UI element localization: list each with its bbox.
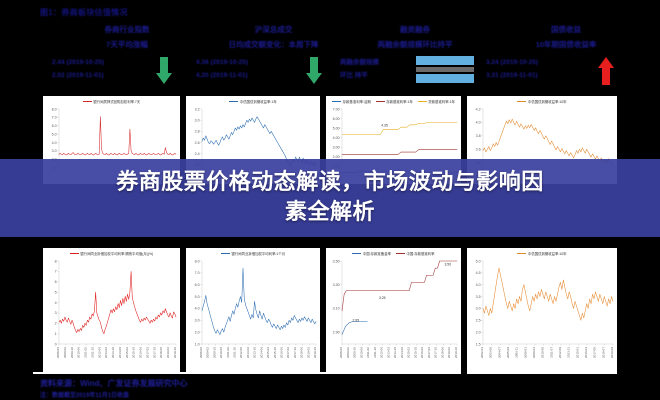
y-axis-tick: 3.0 [195, 319, 200, 323]
y-axis-tick: 5.0 [195, 295, 200, 299]
chart-r2c2-plot: 3.503.303.102.902008-062009-022009-10201… [326, 248, 461, 374]
y-axis-tick: 4.0 [52, 141, 57, 145]
x-axis-tick: 2006-11 [515, 347, 519, 358]
x-axis-tick: 2008-06 [199, 347, 203, 358]
chart-panel-r2c3: 中债国债到期收益率:10年 5.04.54.03.53.02.52.01.520… [467, 248, 617, 374]
header-col3-title2: 10年期国债收益率 [486, 39, 646, 50]
header-col2-row1: 环比 持平 [340, 69, 379, 82]
series-line [59, 271, 176, 333]
x-axis-tick: 2013-02 [386, 347, 390, 358]
series-line [342, 150, 457, 155]
header-col0-row1: 2.02 (2019-11-01) [52, 69, 104, 82]
y-axis-tick: 5 [55, 290, 57, 294]
x-axis-tick: 2008-06 [339, 347, 343, 358]
x-axis-tick: 2011-10 [233, 347, 237, 358]
header-column-market-turnover: 沪深总成交 日均成交额变化：本周下降 4.38 (2019-10-25) 4.2… [196, 24, 351, 90]
x-axis-tick: 2009-10 [212, 347, 216, 358]
y-axis-tick: 3.6 [476, 148, 481, 152]
x-axis-tick: 2012-06 [239, 347, 243, 358]
header-col1-title2: 日均成交额变化：本周下降 [196, 39, 351, 50]
x-axis-tick: 2018-06 [300, 347, 304, 358]
header-col3-title1: 国债收益 [486, 24, 646, 35]
banner-line-1: 券商股票价格动态解读，市场波动与影响因 [30, 168, 630, 198]
y-axis-tick: 4.0 [476, 283, 481, 287]
x-axis-tick: 2009-02 [63, 347, 67, 358]
x-axis-tick: 2011-10 [373, 347, 377, 358]
x-axis-tick: 2018-06 [440, 347, 444, 358]
x-axis-tick: 2015-10 [413, 347, 417, 358]
x-axis-tick: 2019-10 [454, 347, 458, 358]
x-axis-tick: 2002-03 [480, 347, 484, 358]
y-axis-tick: 4 [55, 301, 57, 305]
y-axis-tick: 3.00 [333, 146, 340, 150]
header-col2-title2: 两融余额规模环比持平 [340, 39, 490, 50]
y-axis-tick: 2.5 [476, 319, 481, 323]
y-axis-tick: 8.0 [195, 259, 200, 263]
y-axis-tick: 7.0 [195, 271, 200, 275]
header-column-brokerage-index: 券商行业指数 7天平均涨幅 2.44 (2019-10-25) 2.02 (20… [52, 24, 202, 90]
y-axis-tick: 7.00 [333, 107, 340, 111]
footer-source: 资料来源：Wind、广发证券发展研究中心 [40, 378, 187, 389]
footer-note: 注：数据截至2019年11月1日收盘 [40, 390, 129, 399]
x-axis-tick: 2019-02 [447, 347, 451, 358]
y-axis-tick: 4.0 [476, 121, 481, 125]
x-axis-tick: 2009-03 [532, 347, 536, 358]
x-axis-tick: 2017-02 [286, 347, 290, 358]
y-axis-tick: 5.0 [52, 132, 57, 136]
series-line [342, 321, 367, 334]
chart-r2c0-plot: 8765432102008-062009-022009-102010-06201… [43, 248, 180, 374]
footer-divider [33, 372, 261, 374]
y-axis-tick: 2.4 [195, 152, 200, 156]
y-axis-tick: 2.8 [195, 130, 200, 134]
y-axis-tick: 3.2 [195, 107, 200, 111]
y-axis-tick: 7 [55, 270, 57, 274]
x-axis-tick: 2017-10 [434, 347, 438, 358]
page-title: 图1：券商板块估值情况 [40, 7, 128, 18]
y-axis-tick: 4.0 [195, 307, 200, 311]
x-axis-tick: 2018-07 [601, 347, 605, 358]
x-axis-tick: 2017-10 [293, 347, 297, 358]
y-axis-tick: 1 [55, 332, 57, 336]
x-axis-tick: 2010-06 [359, 347, 363, 358]
x-axis-tick: 2013-10 [393, 347, 397, 358]
y-axis-tick: 3.50 [333, 259, 340, 263]
y-axis-tick: 3.5 [476, 295, 481, 299]
x-axis-tick: 2003-05 [489, 347, 493, 358]
x-axis-tick: 2011-02 [226, 347, 230, 358]
header-block: 图1：券商板块估值情况 券商行业指数 7天平均涨幅 2.44 (2019-10-… [0, 0, 660, 92]
x-axis-tick: 2019-09 [610, 347, 614, 358]
title-banner: 券商股票价格动态解读，市场波动与影响因 素全解析 [0, 159, 660, 237]
x-axis-tick: 2013-11 [567, 347, 571, 358]
header-col2-title1: 融资融券 [340, 24, 490, 35]
header-col3-row1: 3.31 (2019-11-01) [486, 69, 538, 82]
x-axis-tick: 2016-03 [584, 347, 588, 358]
data-label: 3.50 [444, 263, 451, 267]
x-axis-tick: 2009-10 [70, 347, 74, 358]
x-axis-tick: 2019-02 [166, 347, 170, 358]
y-axis-tick: 2.0 [476, 330, 481, 334]
series-line [483, 268, 613, 320]
y-axis-tick: 6 [55, 280, 57, 284]
x-axis-tick: 2015-01 [575, 347, 579, 358]
y-axis-tick: 6.0 [195, 283, 200, 287]
header-col0-title2: 7天平均涨幅 [52, 39, 202, 50]
x-axis-tick: 2011-02 [84, 347, 88, 358]
x-axis-tick: 2017-05 [593, 347, 597, 358]
y-axis-tick: 2.90 [333, 330, 340, 334]
x-axis-tick: 2019-10 [313, 347, 317, 358]
arrow-down-icon [306, 57, 322, 85]
y-axis-tick: 3.0 [195, 118, 200, 122]
banner-line-2: 素全解析 [30, 198, 630, 228]
header-col1-row1: 4.20 (2019-11-01) [196, 69, 248, 82]
y-axis-tick: 5.00 [333, 126, 340, 130]
y-axis-tick: 3.0 [476, 307, 481, 311]
chart-r2c3-plot: 5.04.54.03.53.02.52.01.52002-032003-0520… [467, 248, 617, 374]
y-axis-tick: 3.0 [52, 149, 57, 153]
chart-panel-r2c1: 银行间同业拆借加权平均利率:1个月 8.07.06.05.04.03.02.01… [186, 248, 320, 374]
y-axis-tick: 6.0 [52, 124, 57, 128]
data-label: 2.95 [352, 318, 359, 322]
x-axis-tick: 2009-10 [353, 347, 357, 358]
header-col1-row0: 4.38 (2019-10-25) [196, 56, 248, 69]
x-axis-tick: 2009-02 [206, 347, 210, 358]
series-line [202, 268, 316, 334]
header-col1-title1: 沪深总成交 [196, 24, 351, 35]
x-axis-tick: 2012-06 [97, 347, 101, 358]
y-axis-tick: 5.0 [476, 259, 481, 263]
y-axis-tick: 0 [55, 342, 57, 346]
x-axis-tick: 2014-06 [118, 347, 122, 358]
y-axis-tick: 8 [55, 259, 57, 263]
x-axis-tick: 2015-10 [132, 347, 136, 358]
header-col0-title1: 券商行业指数 [52, 24, 202, 35]
y-axis-tick: 4.5 [476, 271, 481, 275]
series-line [342, 122, 457, 134]
flat-bars-icon [416, 56, 474, 83]
y-axis-tick: 1.5 [476, 342, 481, 346]
data-label: 4.35 [381, 124, 388, 128]
y-axis-tick: 4.00 [333, 136, 340, 140]
series-line [342, 261, 457, 311]
x-axis-tick: 2016-06 [139, 347, 143, 358]
header-col0-row0: 2.44 (2019-10-25) [52, 56, 104, 69]
x-axis-tick: 2013-10 [253, 347, 257, 358]
arrow-down-icon [156, 57, 172, 85]
y-axis-tick: 2.6 [195, 141, 200, 145]
y-axis-tick: 1.0 [195, 342, 200, 346]
footer-divider-2 [272, 372, 392, 374]
chart-panel-r2c2: 中国:存款准备金率中国:存款基准利率 3.503.303.102.902008-… [326, 248, 461, 374]
x-axis-tick: 2011-10 [90, 347, 94, 358]
y-axis-tick: 6.00 [333, 117, 340, 121]
y-axis-tick: 3 [55, 311, 57, 315]
arrow-up-icon [598, 57, 614, 85]
header-col3-row0: 3.24 (2019-10-25) [486, 56, 538, 69]
header-column-bond-yield: 国债收益 10年期国债收益率 3.24 (2019-10-25) 3.31 (2… [486, 24, 646, 90]
x-axis-tick: 2014-06 [259, 347, 263, 358]
x-axis-tick: 2005-09 [506, 347, 510, 358]
x-axis-tick: 2019-02 [306, 347, 310, 358]
x-axis-tick: 2012-06 [380, 347, 384, 358]
chart-panel-r2c0: 银行间同业拆借加权平均利率:隔夜平均值(月)(%) 8765432102008-… [43, 248, 180, 374]
x-axis-tick: 2015-02 [125, 347, 129, 358]
header-column-margin-balance: 融资融券 两融余额规模环比持平 两融余额规模 环比 持平 [340, 24, 490, 90]
y-axis-tick: 3.30 [333, 283, 340, 287]
x-axis-tick: 2008-01 [523, 347, 527, 358]
data-label: 3.25 [379, 296, 386, 300]
screenshot-root: 图1：券商板块估值情况 券商行业指数 7天平均涨幅 2.44 (2019-10-… [0, 0, 660, 400]
x-axis-tick: 2015-02 [407, 347, 411, 358]
x-axis-tick: 2008-06 [56, 347, 60, 358]
header-columns: 券商行业指数 7天平均涨幅 2.44 (2019-10-25) 2.02 (20… [0, 24, 660, 90]
x-axis-tick: 2017-02 [427, 347, 431, 358]
y-axis-tick: 3.8 [476, 134, 481, 138]
header-col2-row0: 两融余额规模 [340, 56, 379, 69]
x-axis-tick: 2011-07 [549, 347, 553, 358]
x-axis-tick: 2013-02 [246, 347, 250, 358]
y-axis-tick: 3.10 [333, 307, 340, 311]
x-axis-tick: 2017-10 [152, 347, 156, 358]
x-axis-tick: 2018-06 [159, 347, 163, 358]
x-axis-tick: 2010-05 [541, 347, 545, 358]
x-axis-tick: 2010-06 [77, 347, 81, 358]
x-axis-tick: 2015-10 [273, 347, 277, 358]
y-axis-tick: 4.2 [476, 107, 481, 111]
x-axis-tick: 2011-02 [366, 347, 370, 358]
x-axis-tick: 2019-10 [173, 347, 177, 358]
y-axis-tick: 7.0 [52, 116, 57, 120]
y-axis-tick: 8.0 [52, 107, 57, 111]
x-axis-tick: 2013-10 [111, 347, 115, 358]
x-axis-tick: 2012-09 [558, 347, 562, 358]
x-axis-tick: 2015-02 [266, 347, 270, 358]
y-axis-tick: 2 [55, 322, 57, 326]
x-axis-tick: 2013-02 [104, 347, 108, 358]
x-axis-tick: 2009-02 [346, 347, 350, 358]
x-axis-tick: 2004-07 [497, 347, 501, 358]
y-axis-tick: 2.0 [195, 330, 200, 334]
series-line [59, 117, 176, 156]
x-axis-tick: 2016-06 [420, 347, 424, 358]
x-axis-tick: 2016-06 [279, 347, 283, 358]
x-axis-tick: 2017-02 [145, 347, 149, 358]
x-axis-tick: 2014-06 [400, 347, 404, 358]
chart-r2c1-plot: 8.07.06.05.04.03.02.01.02008-062009-0220… [186, 248, 320, 374]
x-axis-tick: 2010-06 [219, 347, 223, 358]
